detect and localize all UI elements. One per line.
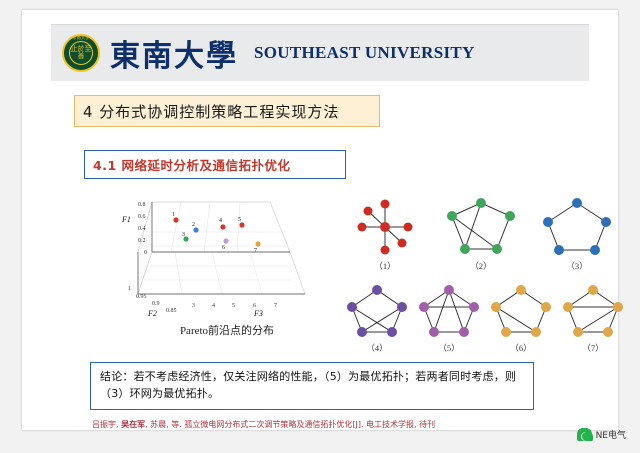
svg-text:5: 5: [232, 303, 235, 309]
svg-text:4: 4: [212, 303, 215, 309]
pareto-axes: 0 0.2 0.4 0.6 0.8 1 0.95 0.9 0.85 3 4: [120, 194, 315, 309]
logo-inner-icon: 止於至善: [69, 41, 93, 65]
svg-text:0.8: 0.8: [138, 202, 146, 208]
topology-7: （7）: [558, 282, 628, 360]
svg-text:1: 1: [172, 212, 175, 218]
topology-4: （4）: [342, 282, 412, 360]
citation-suffix: , 苏晨, 等. 孤立微电网分布式二次调节策略及通信拓扑优化[J]. 电工技术学…: [145, 420, 435, 429]
pareto-figure: 0 0.2 0.4 0.6 0.8 1 0.95 0.9 0.85 3 4: [110, 192, 330, 352]
citation-footnote: 吕振宇, 吴在军, 苏晨, 等. 孤立微电网分布式二次调节策略及通信拓扑优化[J…: [92, 419, 562, 430]
topology-7-label: （7）: [558, 342, 628, 354]
svg-text:0.95: 0.95: [136, 294, 147, 300]
svg-text:0.85: 0.85: [166, 308, 177, 314]
wechat-icon: [577, 428, 592, 441]
topology-2: （2）: [438, 194, 524, 272]
topology-6-label: （6）: [486, 342, 556, 354]
section-title-label: 4 分布式协调控制策略工程实现方法: [83, 101, 339, 122]
university-logo: 止於至善 东南大学: [62, 34, 100, 72]
topology-1-label: （1）: [342, 260, 428, 272]
svg-text:7: 7: [254, 248, 257, 254]
svg-text:0.2: 0.2: [138, 238, 146, 244]
university-name-en: SOUTHEAST UNIVERSITY: [254, 43, 475, 63]
wechat-label: NE电气: [596, 428, 626, 441]
topology-4-label: （4）: [342, 342, 412, 354]
topology-5-label: （5）: [414, 342, 484, 354]
svg-text:F2: F2: [147, 309, 157, 318]
svg-text:7: 7: [274, 303, 277, 309]
conclusion-text: 结论：若不考虑经济性，仅关注网络的性能，（5）为最优拓扑；若两者同时考虑，则（3…: [100, 368, 524, 402]
svg-text:5: 5: [238, 217, 241, 223]
topology-gallery: （1） （2）: [342, 194, 622, 369]
svg-text:3: 3: [192, 303, 195, 309]
svg-text:0.9: 0.9: [152, 301, 160, 307]
university-name-cn: 東南大學: [110, 31, 238, 75]
topology-3: （3）: [534, 194, 620, 272]
topology-6: （6）: [486, 282, 556, 360]
topology-1: （1）: [342, 194, 428, 272]
svg-text:1: 1: [128, 286, 131, 292]
svg-text:4: 4: [219, 218, 222, 224]
topology-3-label: （3）: [534, 260, 620, 272]
svg-text:F3: F3: [253, 309, 263, 318]
conclusion-box: 结论：若不考虑经济性，仅关注网络的性能，（5）为最优拓扑；若两者同时考虑，则（3…: [90, 362, 534, 410]
citation-highlight: 吴在军: [121, 420, 145, 429]
svg-text:0.4: 0.4: [138, 226, 146, 232]
svg-text:0: 0: [144, 250, 147, 256]
logo-badge-label: 东南大学: [64, 35, 98, 41]
wechat-watermark: NE电气: [577, 428, 626, 441]
svg-text:F1: F1: [121, 215, 131, 224]
logo-motto: 止於至善: [70, 46, 92, 60]
slide-canvas: 止於至善 东南大学 東南大學 SOUTHEAST UNIVERSITY 4 分布…: [22, 10, 618, 430]
topology-5: （5）: [414, 282, 484, 360]
pareto-caption: Pareto前沿点的分布: [132, 322, 322, 338]
section-title: 4 分布式协调控制策略工程实现方法: [74, 95, 380, 127]
svg-text:6: 6: [222, 245, 225, 251]
slide-header: 止於至善 东南大学 東南大學 SOUTHEAST UNIVERSITY: [51, 24, 589, 81]
subsection-title-label: 4.1 网络延时分析及通信拓扑优化: [93, 155, 291, 174]
svg-text:2: 2: [192, 222, 195, 228]
subsection-title: 4.1 网络延时分析及通信拓扑优化: [84, 150, 346, 179]
svg-text:3: 3: [182, 232, 185, 238]
topology-2-label: （2）: [438, 260, 524, 272]
svg-text:0.6: 0.6: [138, 214, 146, 220]
citation-prefix: 吕振宇,: [92, 420, 121, 429]
